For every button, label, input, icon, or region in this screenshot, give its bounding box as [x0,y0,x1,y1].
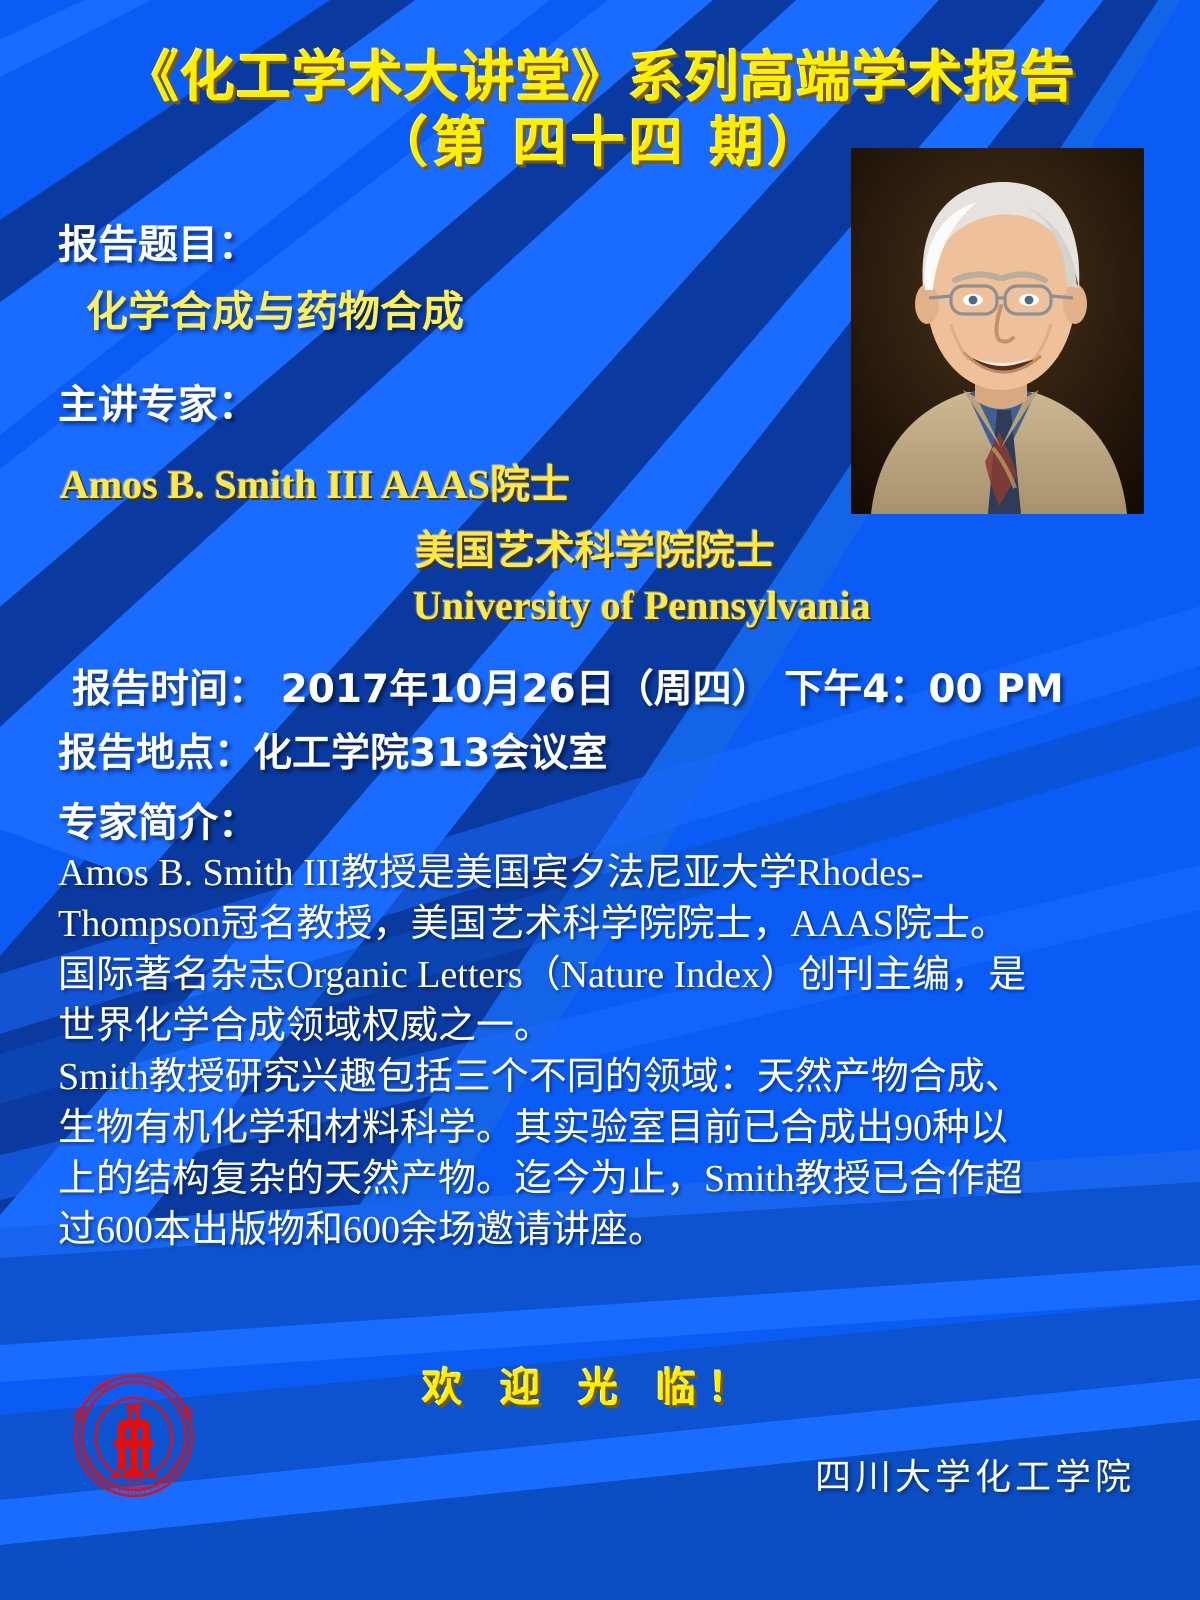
bio-label: 专家简介： [58,790,258,848]
svg-text:四: 四 [71,1406,90,1424]
poster-title-line1: 《化工学术大讲堂》系列高端学术报告 [0,46,1200,108]
speaker-name: Amos B. Smith III AAAS院士 [60,452,570,510]
bio-line: Amos B. Smith III教授是美国宾夕法尼亚大学Rhodes- [58,848,1148,899]
bio-line: 上的结构复杂的天然产物。迄今为止，Smith教授已合作超 [58,1154,1148,1205]
bio-line: 过600本出版物和600余场邀请讲座。 [58,1205,1148,1256]
svg-text:大: 大 [152,1375,171,1394]
sichuan-university-logo: 四 川 大 学 SICHUAN UNIVERSITY [58,1352,210,1512]
report-time: 报告时间： 2017年10月26日（周四） 下午4：00 PM [72,658,1064,714]
svg-text:学: 学 [178,1404,197,1422]
university-seal-icon: 四 川 大 学 SICHUAN UNIVERSITY [58,1352,210,1512]
topic-label: 报告题目： [58,212,258,270]
bio-body: Amos B. Smith III教授是美国宾夕法尼亚大学Rhodes- Tho… [58,848,1148,1256]
topic-value: 化学合成与药物合成 [86,278,464,339]
seal-founded-year: 1896 [123,1479,146,1491]
report-place: 报告地点：化工学院313会议室 [58,722,607,778]
bio-line: 世界化学合成领域权威之一。 [58,1001,1148,1052]
bio-line: 国际著名杂志Organic Letters（Nature Index）创刊主编，… [58,950,1148,1001]
speaker-label: 主讲专家： [58,372,258,430]
svg-text:川: 川 [94,1376,113,1396]
bio-line: Thompson冠名教授，美国艺术科学院院士，AAAS院士。 [58,899,1148,950]
speaker-affiliation-cn: 美国艺术科学院院士 [415,518,775,576]
bio-line: Smith教授研究兴趣包括三个不同的领域：天然产物合成、 [58,1052,1148,1103]
bio-line: 生物有机化学和材料科学。其实验室目前已合成出90种以 [58,1103,1148,1154]
speaker-affiliation-en: University of Pennsylvania [413,582,871,629]
speaker-photo [851,148,1144,514]
speaker-portrait-illustration [851,148,1144,514]
seminar-poster: 《化工学术大讲堂》系列高端学术报告 （第 四十四 期） [0,0,1200,1600]
